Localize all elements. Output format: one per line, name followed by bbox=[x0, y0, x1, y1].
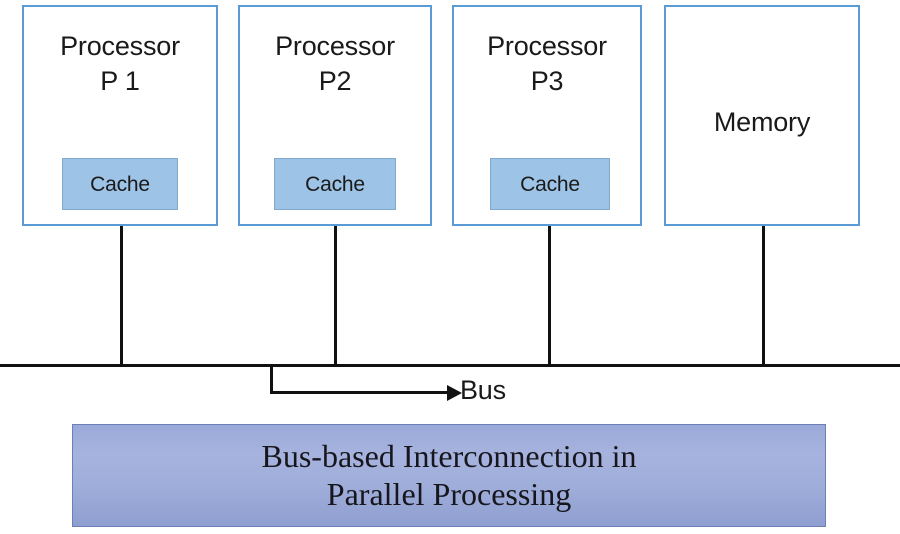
processor-p1-title: Processor P 1 bbox=[24, 29, 216, 98]
processor-p1-cache-box[interactable]: Cache bbox=[62, 158, 178, 210]
memory-box[interactable]: Memory bbox=[664, 5, 860, 226]
diagram-canvas: Processor P 1 Cache Processor P2 Cache P… bbox=[0, 0, 900, 534]
bus-label: Bus bbox=[460, 377, 506, 404]
caption-banner: Bus-based Interconnection in Parallel Pr… bbox=[72, 424, 826, 527]
processor-p3-cache-box[interactable]: Cache bbox=[490, 158, 610, 210]
memory-title: Memory bbox=[666, 105, 858, 140]
processor-p3-cache-label: Cache bbox=[520, 174, 580, 195]
memory-bus-connector bbox=[762, 226, 765, 366]
processor-p2-title: Processor P2 bbox=[240, 29, 430, 98]
bus-line bbox=[0, 364, 900, 367]
bus-leader-vertical bbox=[270, 364, 273, 394]
processor-p2-cache-label: Cache bbox=[305, 174, 365, 195]
bus-leader-horizontal bbox=[270, 391, 448, 394]
processor-p3-title: Processor P3 bbox=[454, 29, 640, 98]
processor-p1-bus-connector bbox=[120, 226, 123, 366]
processor-p1-cache-label: Cache bbox=[90, 174, 150, 195]
processor-p2-bus-connector bbox=[334, 226, 337, 366]
processor-p2-cache-box[interactable]: Cache bbox=[274, 158, 396, 210]
processor-p3-bus-connector bbox=[548, 226, 551, 366]
caption-text: Bus-based Interconnection in Parallel Pr… bbox=[262, 438, 637, 514]
